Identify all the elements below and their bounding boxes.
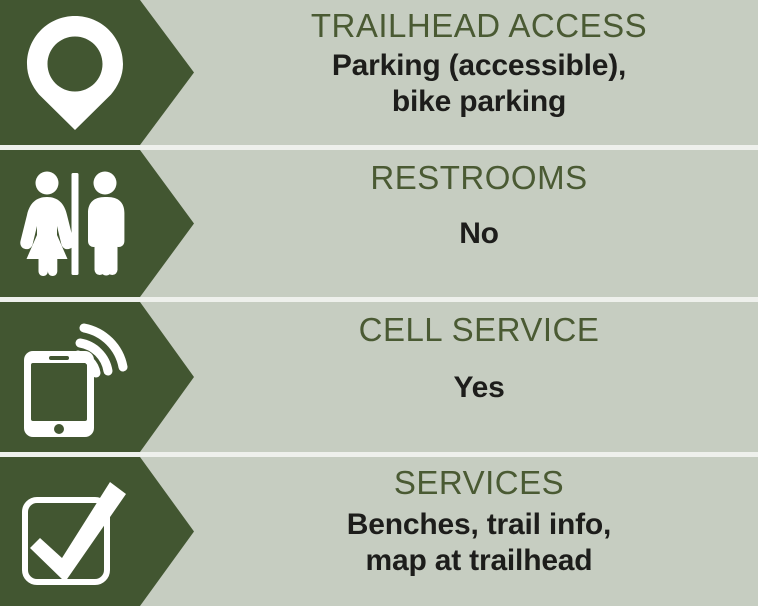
field-value: No (459, 216, 499, 251)
checkbox-check-icon (0, 457, 150, 606)
restrooms-icon (0, 150, 150, 297)
text-column-cell-service: CELL SERVICE Yes (200, 302, 758, 452)
info-row-trailhead-access: TRAILHEAD ACCESS Parking (accessible), b… (0, 0, 758, 145)
field-value: Parking (accessible), bike parking (332, 48, 626, 119)
field-value: Yes (453, 370, 504, 405)
info-row-cell-service: CELL SERVICE Yes (0, 302, 758, 452)
text-column-services: SERVICES Benches, trail info, map at tra… (200, 457, 758, 606)
text-column-restrooms: RESTROOMS No (200, 150, 758, 297)
field-heading: TRAILHEAD ACCESS (311, 8, 647, 44)
field-heading: SERVICES (394, 465, 564, 501)
text-column-trailhead-access: TRAILHEAD ACCESS Parking (accessible), b… (200, 0, 758, 145)
field-value: Benches, trail info, map at trailhead (347, 507, 611, 578)
field-value-line: No (459, 216, 499, 251)
mobile-signal-icon (0, 302, 150, 452)
info-row-services: SERVICES Benches, trail info, map at tra… (0, 457, 758, 606)
field-value-line: Parking (accessible), (332, 48, 626, 83)
field-value-line: bike parking (332, 84, 626, 119)
field-value-line: map at trailhead (347, 543, 611, 578)
field-value-line: Yes (453, 370, 504, 405)
map-pin-icon (0, 0, 150, 145)
amenities-info-panel: TRAILHEAD ACCESS Parking (accessible), b… (0, 0, 758, 606)
field-heading: RESTROOMS (370, 160, 587, 196)
field-heading: CELL SERVICE (359, 312, 600, 348)
field-value-line: Benches, trail info, (347, 507, 611, 542)
info-row-restrooms: RESTROOMS No (0, 150, 758, 297)
